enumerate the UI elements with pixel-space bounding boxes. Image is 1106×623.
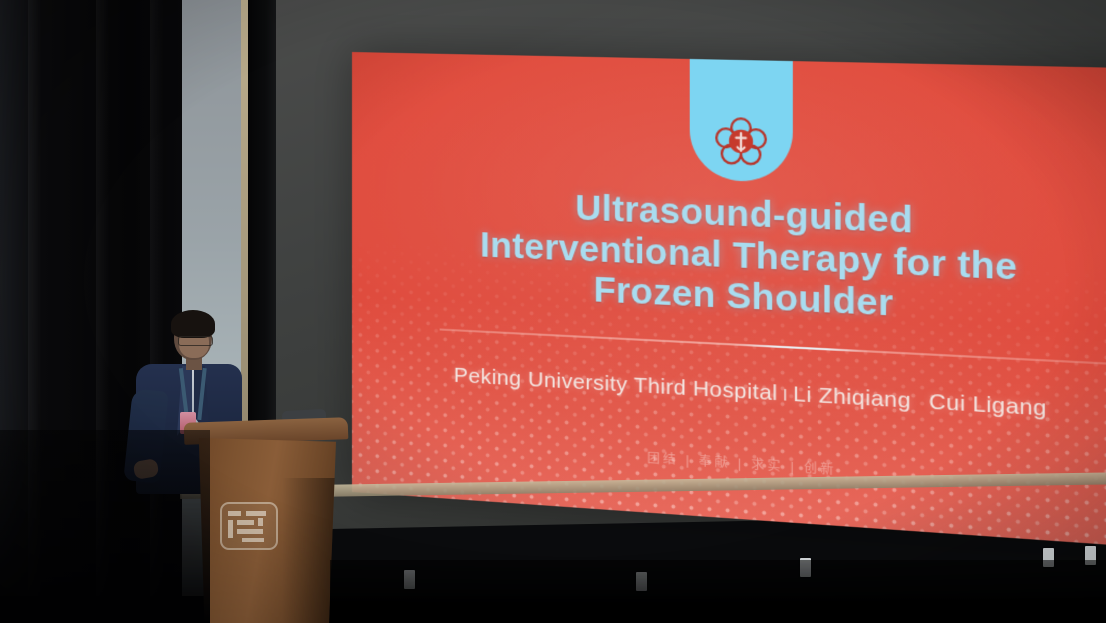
hospital-emblem-icon <box>711 111 771 171</box>
foreground-shadow-left <box>0 430 210 623</box>
podium <box>190 420 342 620</box>
podium-crest-plaque <box>220 502 278 550</box>
presenter-hair <box>171 310 215 338</box>
hospital-shield-logo <box>690 59 793 183</box>
subtitle-author-1: Li Zhiqiang <box>793 382 911 413</box>
presentation-photo-scene: Ultrasound-guided Interventional Therapy… <box>0 0 1106 623</box>
foreground-shadow-bottom <box>330 560 1106 623</box>
presenter-glasses <box>178 336 213 346</box>
subtitle-separator: ı <box>778 381 793 406</box>
subtitle-author-2: Cui Ligang <box>929 390 1047 421</box>
